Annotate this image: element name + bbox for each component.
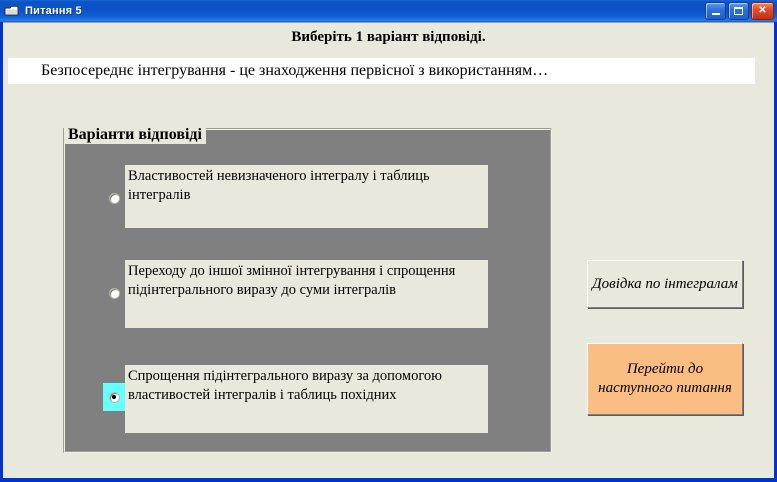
window-title: Питання 5: [25, 5, 82, 17]
title-bar[interactable]: Питання 5 ✕: [0, 0, 777, 22]
answer-label-1[interactable]: Властивостей невизначеного інтегралу і т…: [125, 165, 488, 228]
radio-wrap-3[interactable]: [103, 383, 125, 411]
close-button[interactable]: ✕: [751, 2, 774, 20]
question-field: Безпосереднє інтегрування - це знаходжен…: [8, 58, 755, 84]
question-text: Безпосереднє інтегрування - це знаходжен…: [41, 62, 548, 80]
radio-button-3[interactable]: [109, 392, 120, 403]
form-client-area: Виберіть 1 варіант відповіді. Безпосеред…: [3, 22, 774, 478]
vb-form-icon: [4, 4, 20, 18]
radio-wrap-2[interactable]: [103, 285, 125, 301]
radio-wrap-1[interactable]: [103, 190, 125, 206]
close-icon: ✕: [758, 6, 766, 16]
radio-button-1[interactable]: [109, 193, 120, 204]
window-controls: ✕: [705, 2, 774, 20]
help-button[interactable]: Довідка по інтегралам: [587, 260, 743, 308]
answer-label-2[interactable]: Переходу до іншої змінної інтегрування і…: [125, 260, 488, 328]
answer-label-3[interactable]: Спрощення підінтегрального виразу за доп…: [125, 365, 488, 433]
next-question-button[interactable]: Перейти до наступного питання: [587, 343, 743, 415]
maximize-button[interactable]: [728, 2, 749, 20]
radio-button-2[interactable]: [109, 288, 120, 299]
radio-dot-3: [112, 395, 116, 399]
minimize-button[interactable]: [705, 2, 726, 20]
instruction-label: Виберіть 1 варіант відповіді.: [3, 29, 774, 46]
answers-groupbox-title: Варіанти відповіді: [64, 126, 206, 144]
maximize-icon: [734, 7, 743, 15]
minimize-icon: [712, 13, 720, 15]
application-window: Питання 5 ✕ Виберіть 1 варіант відповіді…: [0, 0, 777, 482]
